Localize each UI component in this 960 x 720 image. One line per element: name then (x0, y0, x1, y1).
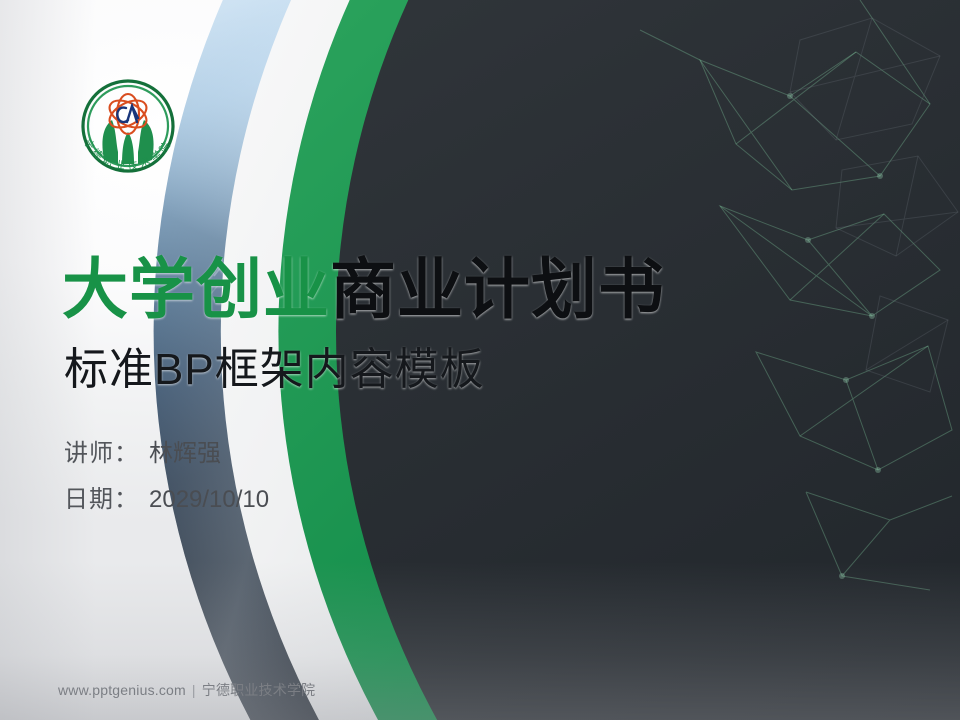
title-green-segment: 大学创业 (62, 252, 330, 326)
presenter-value: 林辉强 (149, 440, 221, 467)
date-row: 日期：2029/10/10 (64, 488, 269, 512)
presenter-row: 讲师：林辉强 (64, 442, 269, 466)
date-label: 日期： (64, 486, 139, 513)
presenter-meta-block: 讲师：林辉强 日期：2029/10/10 (64, 442, 269, 534)
presentation-title-slide: 宁德职业技术学院 大学创业商业计划书 标准BP框架内容模板 讲师：林辉强 日期：… (0, 0, 960, 720)
slide-title: 大学创业商业计划书 (62, 256, 665, 322)
footer-site-url[interactable]: www.pptgenius.com (58, 682, 186, 698)
title-black-segment: 商业计划书 (330, 252, 665, 326)
footer-separator: | (192, 682, 196, 698)
ningde-polytechnic-logo-icon: 宁德职业技术学院 (64, 68, 192, 196)
slide-footer: www.pptgenius.com|宁德职业技术学院 (58, 680, 315, 700)
slide-subtitle: 标准BP框架内容模板 (64, 348, 485, 392)
date-value: 2029/10/10 (149, 486, 269, 513)
footer-institution: 宁德职业技术学院 (202, 682, 316, 698)
presenter-label: 讲师： (64, 440, 139, 467)
